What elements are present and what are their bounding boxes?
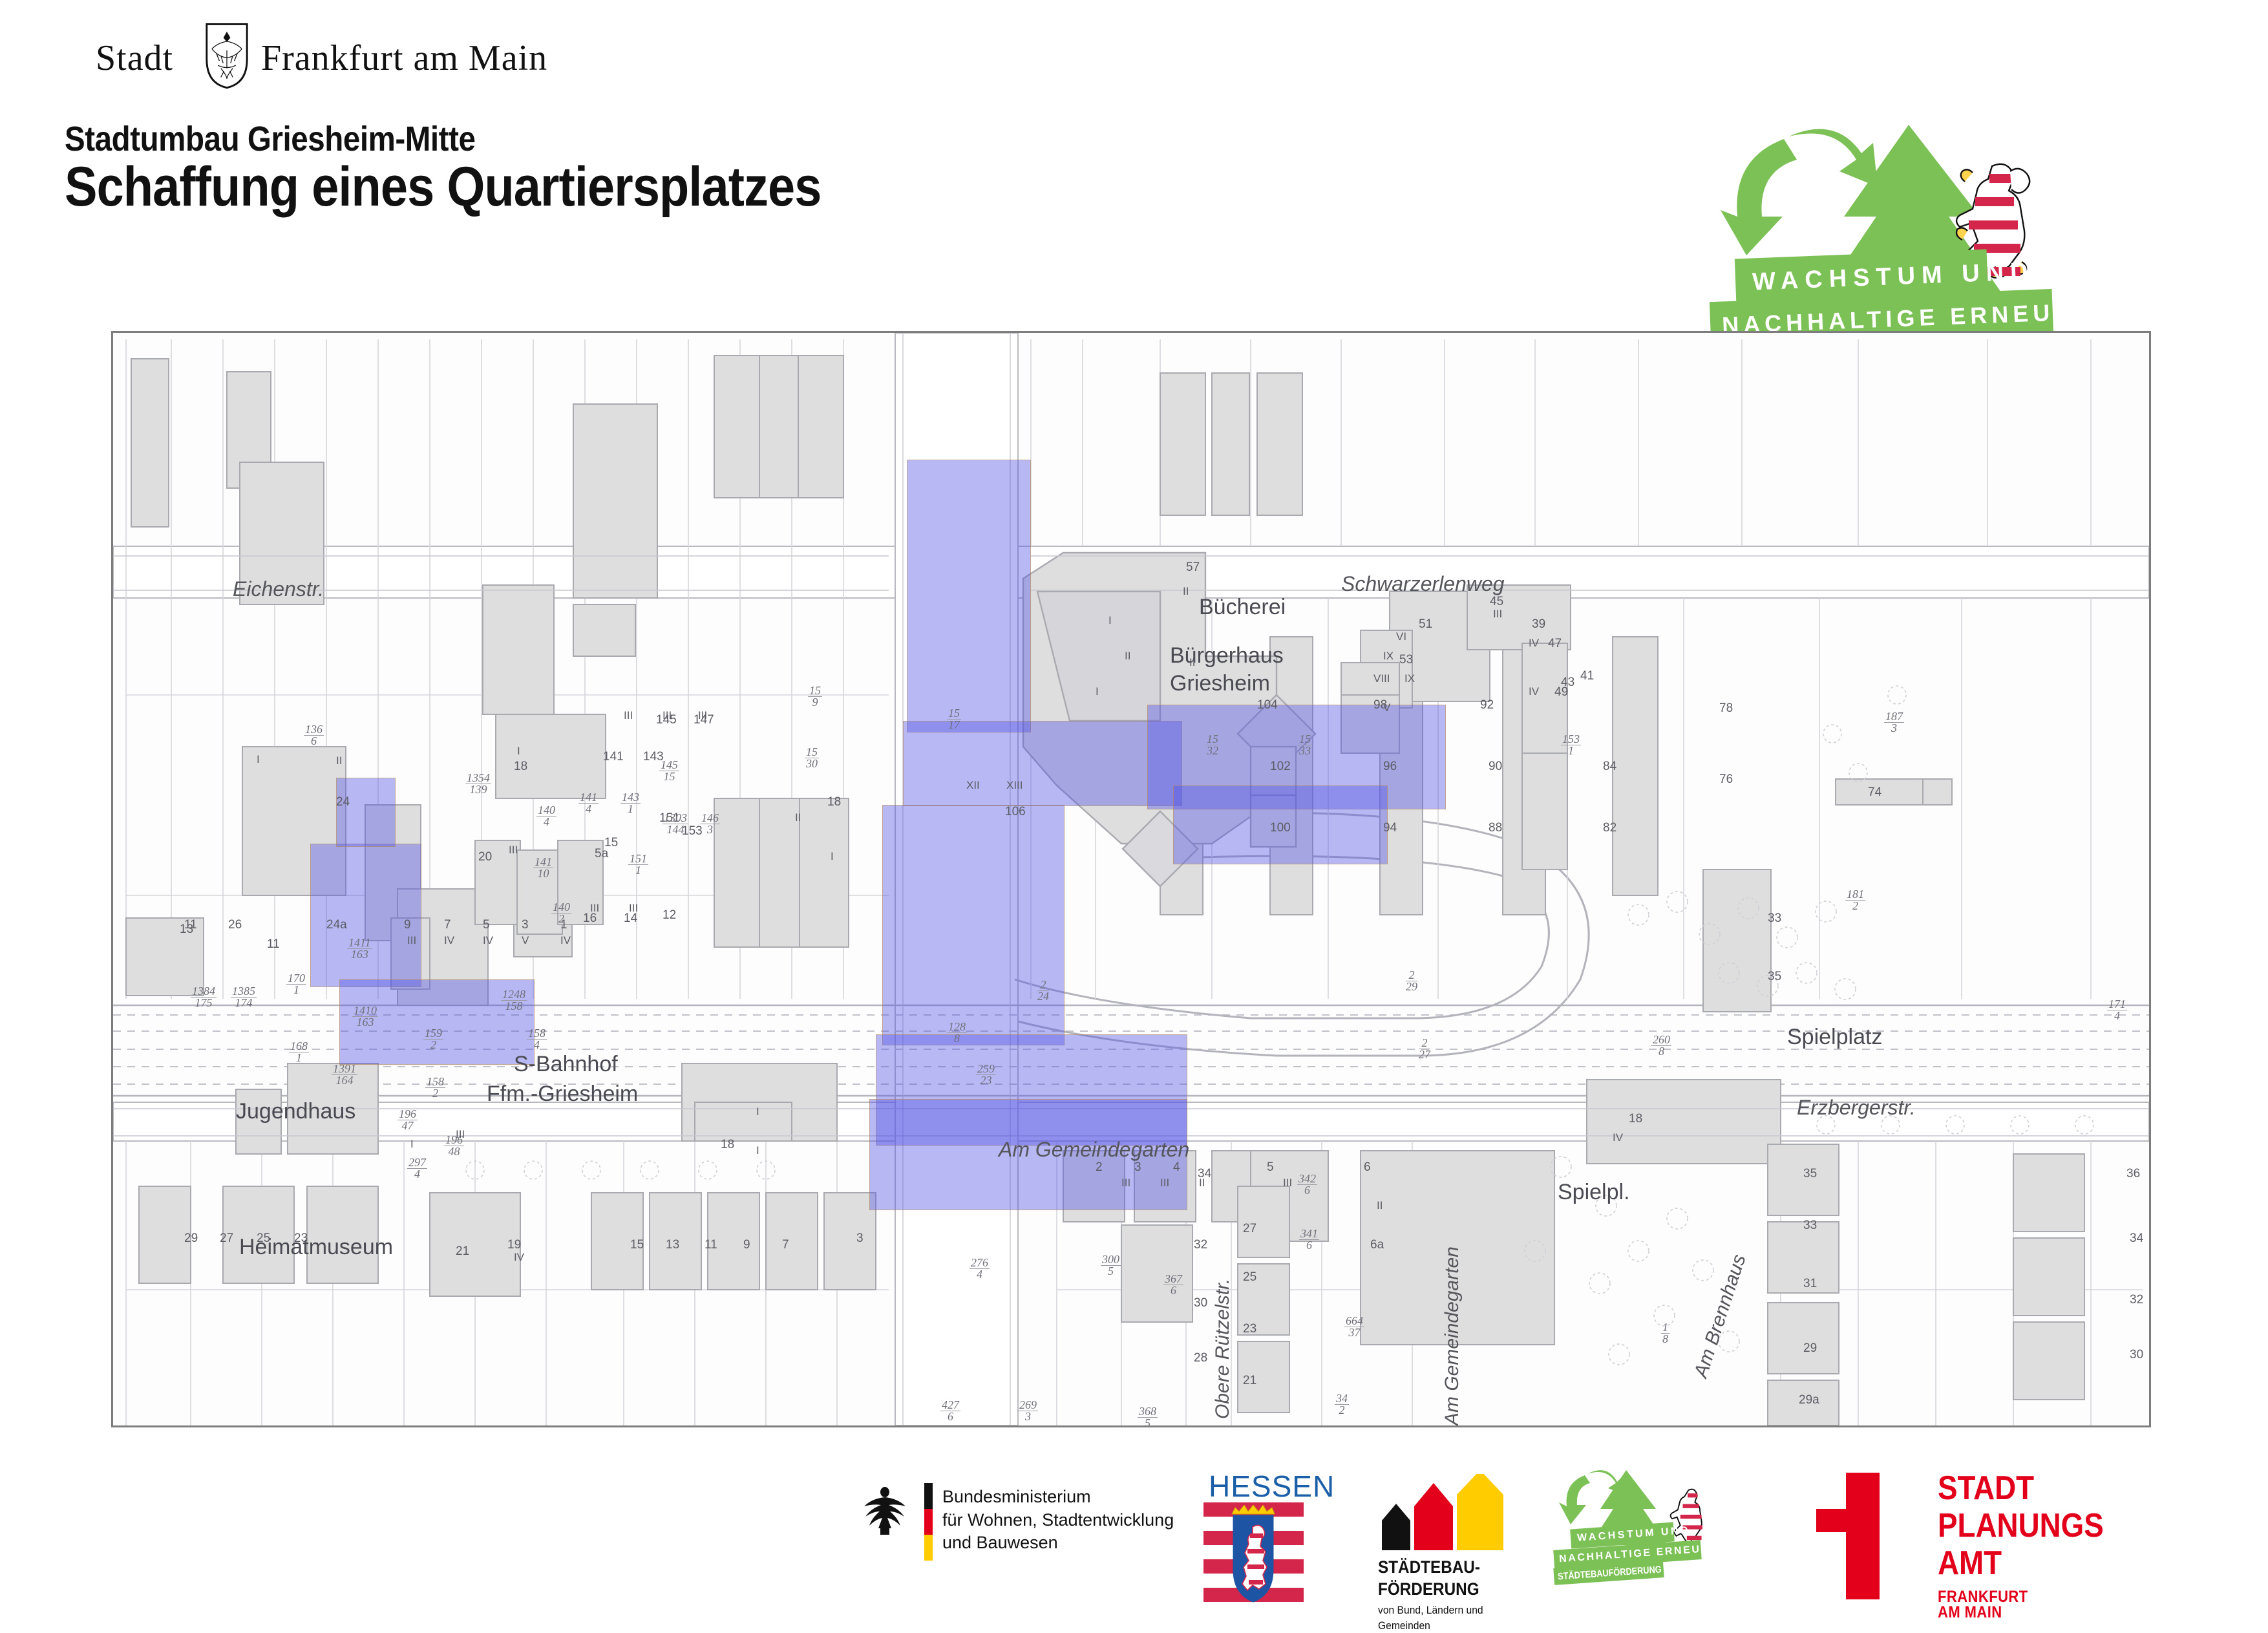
stadtplanungsamt-line3: AMT [1938, 1548, 2002, 1580]
parcel-id: 1511 [628, 853, 648, 876]
house-number: 23 [294, 1232, 308, 1246]
parcel-id: 66437 [1344, 1316, 1364, 1338]
parcel-id: 1531 [1561, 734, 1581, 756]
floor-count: I [831, 850, 834, 863]
hessen-wordmark: HESSEN [1209, 1469, 1335, 1504]
house-number: 82 [1603, 821, 1616, 835]
house-number: 3 [1134, 1160, 1141, 1175]
floor-count: II [1199, 1177, 1205, 1190]
house-number: 35 [1768, 970, 1781, 984]
house-number: 51 [1419, 617, 1432, 632]
parcel-id: 224 [1037, 979, 1049, 1002]
street-label-eichenstr: Eichenstr. [233, 577, 324, 601]
floor-count: IV [444, 934, 454, 947]
poi-label-spielplatz: Spielplatz [1787, 1025, 1882, 1050]
floor-count: I [1108, 614, 1112, 627]
parcel-id: 3685 [1138, 1406, 1158, 1427]
parcel-id: 1385174 [231, 986, 257, 1009]
floor-count: IV [1613, 1131, 1623, 1144]
house-number: 96 [1383, 760, 1397, 774]
floor-count: III [456, 1128, 465, 1141]
house-number: 6 [1364, 1160, 1371, 1175]
parcel-id: 14110 [533, 857, 553, 879]
house-number: 25 [257, 1232, 270, 1246]
parcel-id: 1391164 [332, 1063, 357, 1086]
house-number: 33 [1803, 1219, 1817, 1233]
house-number: 35 [1803, 1167, 1817, 1181]
page-title: Schaffung eines Quartiersplatzes [65, 155, 821, 219]
city-logo: Stadt Frankfurt am Main [96, 31, 509, 83]
house-number: 18 [827, 795, 841, 809]
stadtplanungsamt-sub: FRANKFURT AM MAIN [1938, 1589, 2028, 1620]
floor-count: XII [966, 779, 980, 792]
house-number: 23 [1243, 1322, 1256, 1336]
poi-label-jugendhaus: Jugendhaus [236, 1099, 355, 1124]
parcel-id: 3426 [1297, 1173, 1317, 1196]
house-number: 29 [1803, 1341, 1817, 1356]
parcel-id: 1366 [304, 724, 324, 747]
parcel-id: 1592 [423, 1028, 443, 1051]
parcel-id: 1288 [947, 1021, 967, 1044]
parcel-id: 1532 [1205, 734, 1220, 756]
parcel-id: 1714 [2107, 999, 2127, 1021]
house-number: 104 [1257, 698, 1278, 712]
street-label-erzbergerstr: Erzbergerstr. [1797, 1096, 1916, 1120]
street-label-am-gemeindegarten: Am Gemeindegarten [999, 1138, 1189, 1162]
floor-count: I [756, 1105, 759, 1118]
parcel-id: 18 [1661, 1322, 1669, 1345]
floor-count: III [629, 902, 638, 915]
house-number: 53 [1399, 653, 1413, 667]
parcel-id: 2608 [1651, 1034, 1671, 1057]
parcel-id: 1431 [620, 792, 641, 815]
floor-count: III [1493, 608, 1502, 621]
floor-count: IV [483, 934, 493, 947]
floor-count: II [795, 811, 801, 824]
parcel-id: 1402 [551, 902, 571, 924]
poi-label-ffm-griesheim: Ffm.-Griesheim [487, 1082, 638, 1107]
floor-count: II [336, 754, 342, 767]
street-label-obere-ruetzelstr: Obere Rützelstr. [1212, 1279, 1234, 1419]
parcel-id: 3416 [1299, 1228, 1319, 1251]
house-number: 5 [483, 918, 490, 932]
house-number: 47 [1548, 637, 1562, 651]
house-number: 13 [180, 923, 193, 937]
poi-label-s-bahnhof: S-Bahnhof [514, 1052, 618, 1077]
floor-count: VI [1396, 630, 1406, 643]
house-number: 11 [267, 937, 280, 952]
parcel-id: 1873 [1884, 711, 1904, 734]
house-number: 9 [404, 918, 411, 932]
house-number: 11 [705, 1238, 717, 1252]
floor-count: III [590, 902, 599, 915]
parcel-id: 1414 [578, 792, 599, 815]
parcel-id: 227 [1419, 1038, 1430, 1060]
staedtebaufoerderung-line1: STÄDTEBAU- [1378, 1557, 1480, 1577]
floor-count: I [257, 753, 260, 766]
site-map[interactable]: Eichenstr. Schwarzerlenweg Erzbergerstr.… [111, 331, 2151, 1427]
parcel-id: 1681 [289, 1041, 309, 1063]
parcel-id: 4276 [940, 1400, 960, 1422]
house-number: 20 [478, 850, 492, 864]
stadtplanungsamt-line1: STADT [1938, 1473, 2034, 1505]
stadtplanungsamt-line2: PLANUNGS [1938, 1510, 2104, 1542]
footer-logo-strip: Bundesministerium für Wohnen, Stadtentwi… [0, 1455, 2268, 1603]
house-number: 21 [1243, 1374, 1256, 1388]
staedtebaufoerderung-sub2: Gemeinden [1378, 1619, 1430, 1633]
floor-count: II [1189, 656, 1195, 669]
parcel-id: 1303144 [662, 813, 688, 835]
floor-count: V [522, 934, 529, 947]
floor-count: IV [514, 1251, 524, 1264]
floor-count: I [756, 1144, 759, 1157]
parcel-id: 2764 [970, 1257, 990, 1280]
floor-count: II [1183, 585, 1189, 598]
floor-count: I [1096, 685, 1099, 698]
house-number: 106 [1005, 805, 1026, 819]
house-number: 78 [1719, 701, 1733, 716]
house-number: 25 [1243, 1270, 1256, 1285]
floor-count: XIII [1006, 779, 1023, 792]
parcel-id: 1517 [947, 708, 961, 731]
floor-count: IX [1404, 672, 1415, 685]
house-number: 32 [1194, 1238, 1207, 1252]
staedtebaufoerderung-line2: FÖRDERUNG [1378, 1579, 1479, 1599]
house-number: 7 [782, 1238, 789, 1252]
parcel-id: 3005 [1101, 1254, 1121, 1277]
hessen-lion-icon-footer [1669, 1487, 1709, 1549]
floor-count: VIII [1373, 672, 1390, 685]
house-number: 12 [662, 908, 676, 923]
house-number: 36 [2126, 1167, 2140, 1181]
house-number: 21 [456, 1244, 469, 1259]
page-subtitle: Stadtumbau Griesheim-Mitte [65, 119, 475, 159]
poi-label-buecherei: Bücherei [1199, 595, 1286, 620]
floor-count: IV [1529, 637, 1539, 650]
floor-count: II [1125, 650, 1130, 663]
house-number: 9 [743, 1238, 750, 1252]
house-number: 19 [507, 1238, 521, 1252]
house-number: 13 [666, 1238, 679, 1252]
floor-count: III [662, 709, 672, 722]
floor-count: III [1160, 1177, 1169, 1190]
hessen-logo: HESSEN [1203, 1469, 1313, 1592]
house-number: 34 [2130, 1232, 2143, 1246]
parcel-id: 1248158 [501, 989, 527, 1012]
house-number: 33 [1768, 912, 1781, 926]
floor-count: IV [560, 934, 571, 947]
house-number: 84 [1603, 760, 1616, 774]
house-number: 6a [1370, 1238, 1384, 1252]
parcel-id: 1463 [700, 813, 720, 835]
highlight-area [907, 460, 1031, 732]
city-logo-word-stadt: Stadt [96, 37, 173, 79]
house-number: 41 [1580, 669, 1594, 683]
house-number: 76 [1719, 773, 1733, 787]
house-number: 15 [630, 1238, 644, 1252]
highlight-area [310, 844, 421, 987]
house-number: 26 [228, 918, 242, 932]
floor-count: III [1121, 1177, 1130, 1190]
house-number: 27 [1243, 1222, 1256, 1236]
poi-label-griesheim: Griesheim [1170, 671, 1270, 696]
house-number: 4 [1173, 1160, 1180, 1175]
highlight-area [882, 805, 1065, 1045]
house-number: 18 [514, 760, 527, 774]
staedtebaufoerderung-sub1: von Bund, Ländern und [1378, 1603, 1483, 1617]
house-number: 19 [1243, 1425, 1256, 1427]
floor-count: V [1383, 701, 1390, 714]
house-number: 2 [1096, 1160, 1103, 1175]
house-number: 88 [1489, 821, 1502, 835]
house-number: 27 [220, 1232, 233, 1246]
floor-count: III [407, 934, 416, 947]
house-number: 5a [595, 847, 608, 861]
parcel-id: 25923 [976, 1063, 996, 1086]
floor-count: III [509, 844, 518, 857]
house-number: 18 [1629, 1112, 1642, 1126]
parcel-id: 1701 [286, 973, 306, 996]
highlight-area [336, 778, 396, 847]
red-block-mark-icon [1816, 1473, 1926, 1599]
parcel-id: 1533 [1298, 734, 1312, 756]
house-number: 7 [444, 918, 451, 932]
parcel-id: 342 [1335, 1393, 1349, 1416]
bundesadler-icon [860, 1482, 910, 1539]
house-number: 3 [522, 918, 529, 932]
house-number: 141 [603, 750, 624, 764]
parcel-id: 229 [1406, 970, 1417, 992]
parcel-id: 1411163 [347, 937, 372, 960]
house-number: 32 [2130, 1293, 2143, 1307]
floor-count: IV [1529, 685, 1539, 698]
parcel-id: 19647 [397, 1109, 418, 1131]
poi-label-buergerhaus: Bürgerhaus [1170, 643, 1284, 668]
parcel-id: 1404 [536, 805, 556, 827]
parcel-id: 1812 [1845, 889, 1865, 912]
parcel-id: 2693 [1018, 1400, 1038, 1422]
house-number: 18 [721, 1138, 734, 1152]
highlight-area [903, 721, 1182, 806]
bundesministerium-line2: für Wohnen, Stadtentwicklung [942, 1509, 1174, 1532]
house-number: 30 [1194, 1296, 1207, 1310]
house-number: 31 [1803, 1277, 1817, 1291]
house-number: 45 [1490, 595, 1503, 609]
bundesministerium-line3: und Bauwesen [942, 1532, 1174, 1555]
parcel-id: 2974 [407, 1157, 427, 1180]
house-number: 102 [1270, 760, 1291, 774]
parcel-id: 159 [808, 685, 822, 708]
house-number: 74 [1868, 785, 1881, 800]
house-number: 43 [1561, 676, 1574, 690]
three-houses-icon [1377, 1474, 1512, 1552]
floor-count: I [517, 745, 520, 758]
house-number: 28 [1194, 1351, 1207, 1365]
floor-count: IX [1383, 650, 1394, 663]
frankfurt-eagle-shield-icon [204, 22, 250, 89]
house-number: 30 [2130, 1348, 2143, 1362]
parcel-id: 14515 [659, 760, 679, 782]
house-number: 29 [184, 1232, 198, 1246]
house-number: 39 [1532, 617, 1545, 632]
house-number: 92 [1480, 698, 1494, 712]
poi-label-spielpl: Spielpl. [1558, 1180, 1630, 1205]
street-label-schwarzerlenweg: Schwarzerlenweg [1341, 572, 1505, 596]
city-logo-word-frankfurt: Frankfurt am Main [261, 37, 547, 79]
floor-count: III [1283, 1177, 1292, 1190]
house-number: 29a [1799, 1393, 1819, 1407]
parcel-id: 1530 [805, 747, 819, 769]
programme-logo-footer: WACHSTUM UND NACHHALTIGE ERNEUERUNG STÄD… [1551, 1466, 1771, 1596]
house-number: 24 [336, 795, 350, 809]
hessen-coat-of-arms-icon [1231, 1505, 1276, 1603]
house-number: 100 [1270, 821, 1291, 835]
house-number: 94 [1383, 821, 1397, 835]
street-label-am-gemeindegarten-vertical: Am Gemeindegarten [1441, 1246, 1463, 1425]
parcel-id: 1354139 [465, 773, 491, 795]
floor-count: III [698, 709, 707, 722]
house-number: 5 [1267, 1160, 1274, 1175]
floor-count: II [1377, 1199, 1383, 1212]
house-number: 24a [326, 918, 347, 932]
floor-count: I [410, 1138, 414, 1151]
house-number: 90 [1489, 760, 1502, 774]
bundesministerium-line1: Bundesministerium [942, 1486, 1174, 1509]
parcel-id: 1582 [425, 1076, 445, 1099]
parcel-id: 1384175 [191, 986, 217, 1009]
parcel-id: 3676 [1163, 1274, 1183, 1296]
house-number: 3 [856, 1232, 864, 1246]
house-number: 57 [1186, 560, 1200, 575]
floor-count: III [624, 709, 633, 722]
parcel-id: 1584 [527, 1028, 547, 1051]
parcel-id: 1410163 [352, 1005, 378, 1028]
